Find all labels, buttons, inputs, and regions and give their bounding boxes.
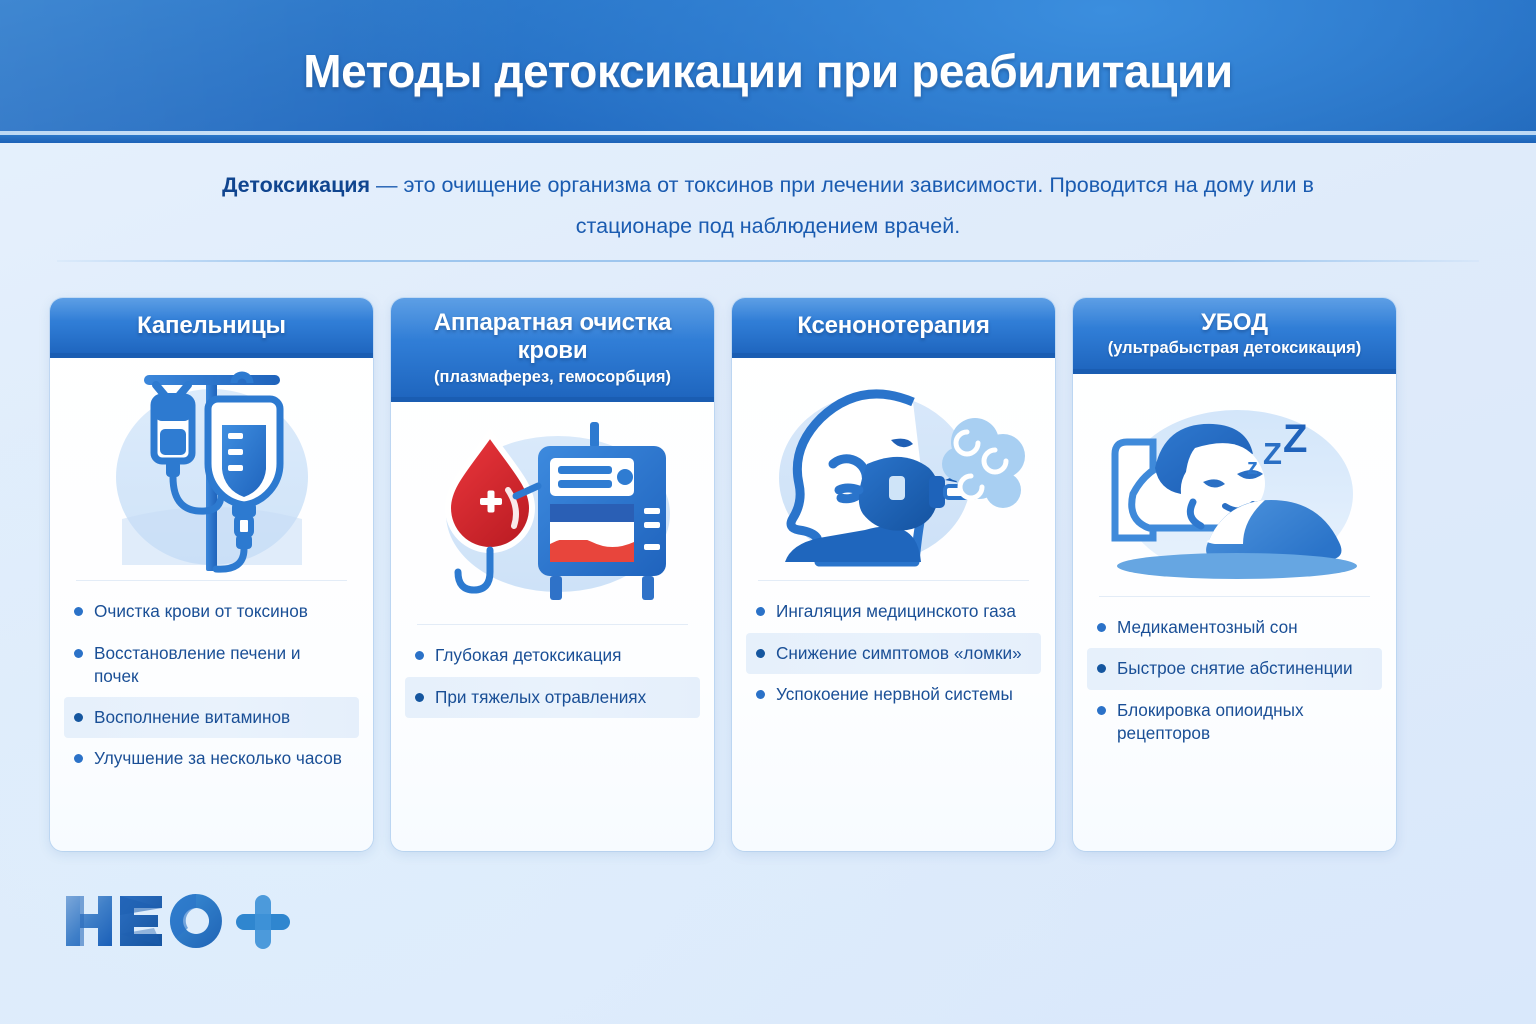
intro-rest-text: — это очищение организма от токсинов при… (370, 173, 1314, 238)
method-card-ubod[interactable]: УБОД (ультрабыстрая детоксикация) (1073, 298, 1396, 851)
list-item: Ингаляция медицинското газа (746, 591, 1041, 632)
list-item-highlighted: Восполнение витаминов (64, 697, 359, 738)
benefit-list: Ингаляция медицинското газа Снижение сим… (732, 591, 1055, 735)
intro-lead-word: Детоксикация (222, 173, 370, 197)
head-oxygen-mask-icon (732, 358, 1055, 580)
sleeping-person-icon: Z Z z (1073, 374, 1396, 596)
bullet-icon (756, 690, 765, 699)
bullet-icon (1097, 623, 1106, 632)
card-header: Капельницы (50, 298, 373, 358)
intro-paragraph: Детоксикация — это очищение организма от… (168, 165, 1368, 247)
bullet-icon (74, 713, 83, 722)
list-item-highlighted: При тяжелых отравлениях (405, 677, 700, 718)
method-card-kapelnitsy[interactable]: Капельницы (50, 298, 373, 851)
list-item-label: Ингаляция медицинското газа (776, 600, 1016, 623)
page-header-banner: Методы детоксикации при реабилитации (0, 0, 1536, 131)
bullet-icon (74, 754, 83, 763)
list-item: Улучшение за несколько часов (64, 738, 359, 779)
list-item-label: Глубокая детоксикация (435, 644, 621, 667)
card-subtitle: (ультрабыстрая детоксикация) (1083, 339, 1386, 359)
card-header: УБОД (ультрабыстрая детоксикация) (1073, 298, 1396, 374)
benefit-list: Медикаментозный сон Быстрое снятие абсти… (1073, 607, 1396, 774)
bullet-icon (74, 607, 83, 616)
list-item-highlighted: Снижение симптомов «ломки» (746, 633, 1041, 674)
list-item: Очистка крови от токсинов (64, 591, 359, 632)
list-item: Успокоение нервной системы (746, 674, 1041, 715)
bullet-icon (415, 651, 424, 660)
section-divider (57, 260, 1479, 262)
list-item-label: Снижение симптомов «ломки» (776, 642, 1022, 665)
list-item-label: Очистка крови от токсинов (94, 600, 308, 623)
svg-text:Z: Z (1263, 436, 1282, 471)
list-divider (1099, 596, 1370, 597)
list-item-label: Медикаментозный сон (1117, 616, 1298, 639)
benefit-list: Глубокая детоксикация При тяжелых отравл… (391, 635, 714, 737)
card-subtitle: (плазмаферез, гемосорбция) (401, 368, 704, 388)
blood-drop-machine-icon (391, 402, 714, 624)
card-title: Ксенонотерапия (744, 312, 1043, 340)
list-item-label: Восполнение витаминов (94, 706, 290, 729)
benefit-list: Очистка крови от токсинов Восстановление… (50, 591, 373, 799)
list-item-label: При тяжелых отравлениях (435, 686, 646, 709)
list-divider (758, 580, 1029, 581)
svg-text:z: z (1247, 454, 1258, 479)
list-item: Блокировка опиоидных рецепторов (1087, 690, 1382, 754)
list-divider (417, 624, 688, 625)
list-item-label: Быстрое снятие абстиненции (1117, 657, 1353, 680)
list-item-label: Улучшение за несколько часов (94, 747, 342, 770)
svg-text:Z: Z (1283, 417, 1307, 461)
iv-drip-icon (50, 358, 373, 580)
bullet-icon (1097, 664, 1106, 673)
method-cards-row: Капельницы (50, 298, 1488, 851)
bullet-icon (74, 649, 83, 658)
list-item-label: Блокировка опиоидных рецепторов (1117, 699, 1370, 745)
brand-logo (62, 890, 292, 952)
header-rule-dark (0, 135, 1536, 143)
bullet-icon (415, 693, 424, 702)
card-header: Аппаратная очистка крови (плазмаферез, г… (391, 298, 714, 402)
bullet-icon (756, 607, 765, 616)
card-title: УБОД (1083, 309, 1386, 337)
list-item-label: Восстановление печени и почек (94, 642, 347, 688)
list-item: Глубокая детоксикация (405, 635, 700, 676)
card-title: Капельницы (62, 312, 361, 340)
page-title: Методы детоксикации при реабилитации (0, 44, 1536, 98)
bullet-icon (1097, 706, 1106, 715)
method-card-ksenonoterapiya[interactable]: Ксенонотерапия (732, 298, 1055, 851)
list-divider (76, 580, 347, 581)
method-card-apparatnaya-ochistka[interactable]: Аппаратная очистка крови (плазмаферез, г… (391, 298, 714, 851)
bullet-icon (756, 649, 765, 658)
list-item: Медикаментозный сон (1087, 607, 1382, 648)
list-item-highlighted: Быстрое снятие абстиненции (1087, 648, 1382, 689)
card-header: Ксенонотерапия (732, 298, 1055, 358)
list-item: Восстановление печени и почек (64, 633, 359, 697)
list-item-label: Успокоение нервной системы (776, 683, 1013, 706)
card-title: Аппаратная очистка крови (401, 309, 704, 366)
